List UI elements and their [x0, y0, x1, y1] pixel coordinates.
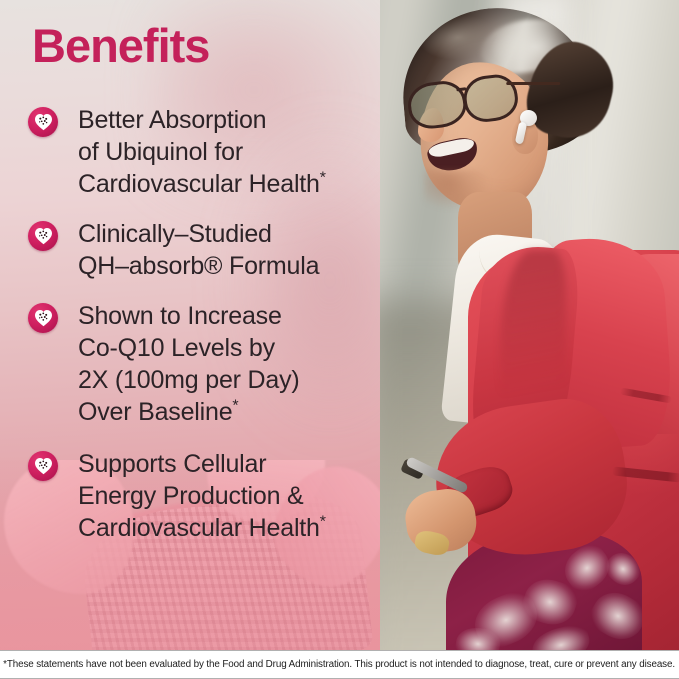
benefits-content-panel: Benefits	[0, 0, 380, 650]
page-title: Benefits	[32, 22, 209, 69]
benefit-text: Supports Cellular Energy Production & Ca…	[78, 448, 326, 544]
benefit-line: 2X (100mg per Day)	[78, 366, 300, 394]
lens-right	[461, 72, 520, 124]
footnote-marker: *	[320, 514, 326, 531]
fda-disclaimer-text: *These statements have not been evaluate…	[4, 659, 676, 670]
benefit-line: Co-Q10 Levels by	[78, 334, 275, 362]
heart-cells-icon	[28, 303, 58, 333]
benefit-line: QH–absorb® Formula	[78, 252, 319, 280]
benefit-item-better-absorption: Better Absorption of Ubiquinol for Cardi…	[28, 104, 376, 200]
benefits-infographic-card: Benefits	[0, 0, 679, 679]
glasses-temple	[506, 82, 560, 85]
benefit-line: Cardiovascular Health	[78, 514, 320, 542]
benefit-line: Cardiovascular Health	[78, 170, 320, 198]
fda-disclaimer-bar: *These statements have not been evaluate…	[0, 650, 679, 679]
heart-cells-icon	[28, 107, 58, 137]
benefit-line: Clinically–Studied	[78, 220, 272, 248]
benefits-list: Better Absorption of Ubiquinol for Cardi…	[28, 104, 376, 562]
footnote-marker: *	[232, 398, 238, 415]
benefit-line: Shown to Increase	[78, 302, 282, 330]
lens-left	[406, 79, 469, 132]
footnote-marker: *	[320, 170, 326, 187]
benefit-text: Shown to Increase Co-Q10 Levels by 2X (1…	[78, 300, 300, 428]
floral-motif	[584, 584, 642, 648]
lifestyle-photo	[380, 0, 679, 650]
benefit-line: of Ubiquinol for	[78, 138, 243, 166]
floral-motif	[529, 621, 594, 650]
benefit-line: Supports Cellular	[78, 450, 266, 478]
benefit-line: Energy Production &	[78, 482, 304, 510]
heart-cells-icon	[28, 221, 58, 251]
benefit-item-cellular-energy: Supports Cellular Energy Production & Ca…	[28, 448, 376, 544]
heart-cells-icon	[28, 451, 58, 481]
benefit-line: Better Absorption	[78, 106, 266, 134]
benefit-item-coq10-levels: Shown to Increase Co-Q10 Levels by 2X (1…	[28, 300, 376, 428]
benefit-text: Better Absorption of Ubiquinol for Cardi…	[78, 104, 326, 200]
benefit-text: Clinically–Studied QH–absorb® Formula	[78, 218, 319, 282]
benefit-item-qh-absorb-formula: Clinically–Studied QH–absorb® Formula	[28, 218, 376, 282]
benefit-line: Over Baseline	[78, 398, 232, 426]
